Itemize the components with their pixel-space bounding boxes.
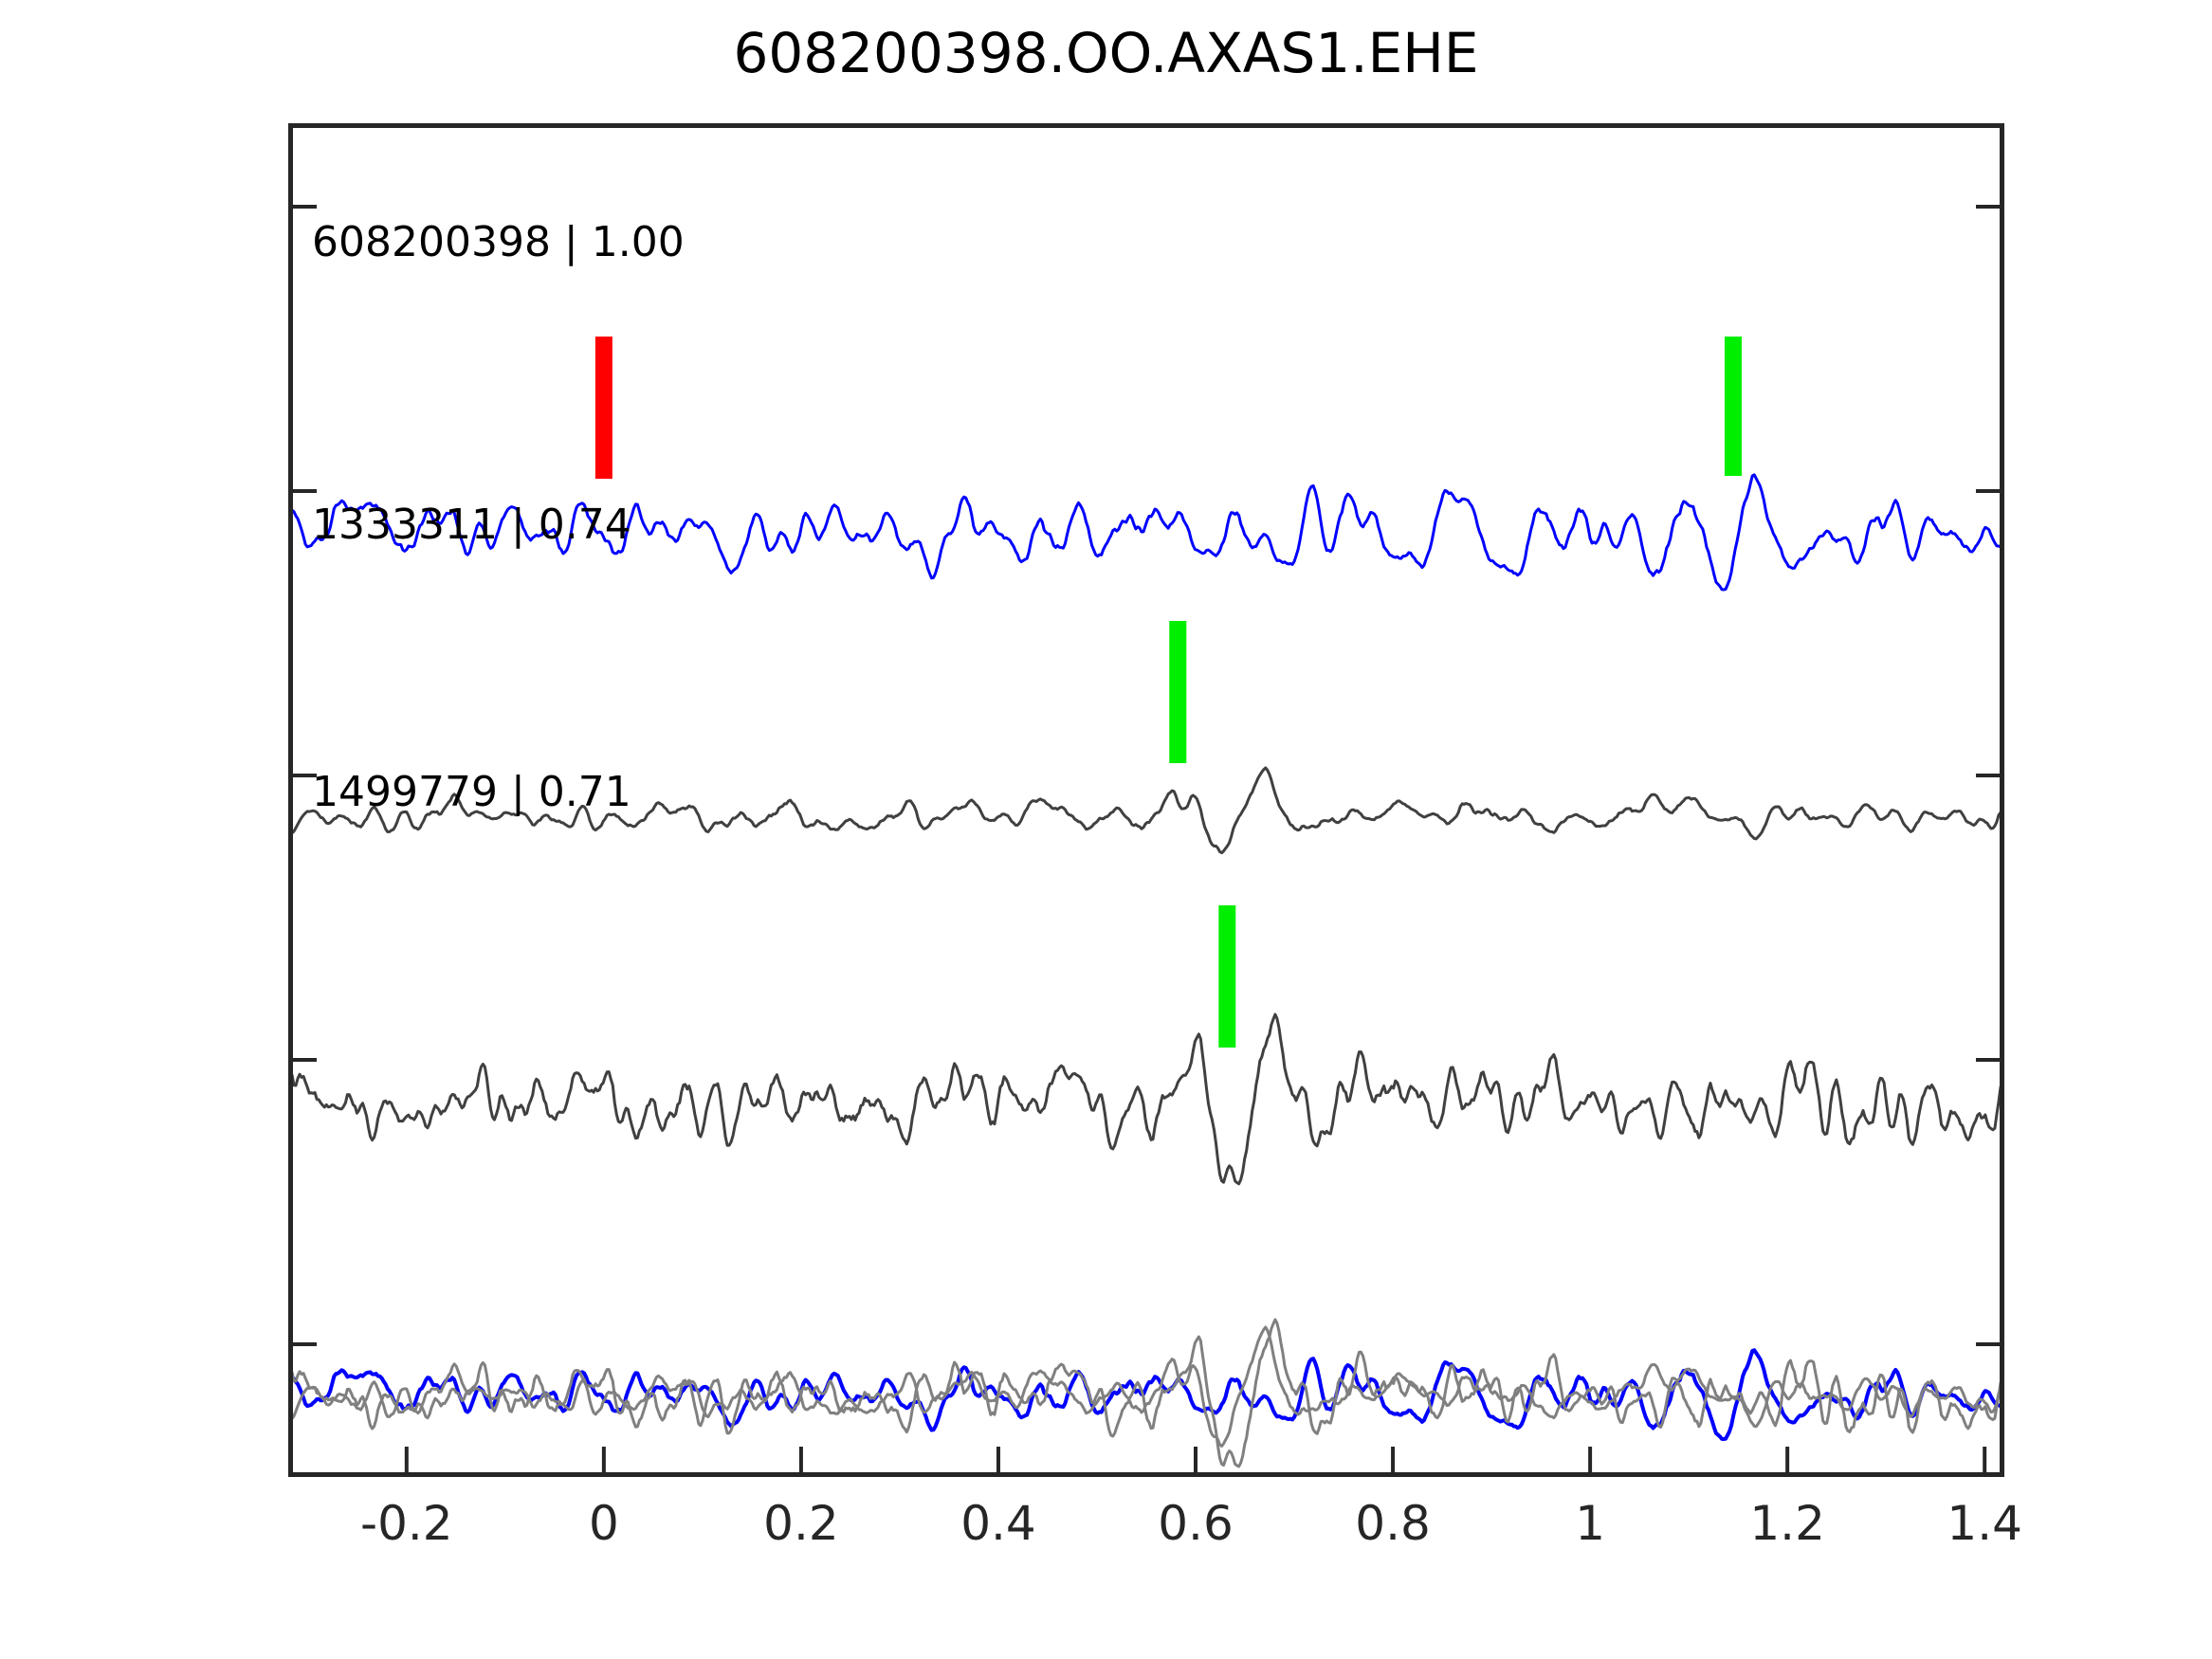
detection-pick-1[interactable] <box>1725 337 1742 476</box>
x-tick-label-8: 1.4 <box>1947 1496 2022 1551</box>
x-tick-label-5: 0.8 <box>1355 1496 1431 1551</box>
plot-axes[interactable]: 608200398 | 1.00 1333311 | 0.74 1499779 … <box>288 123 2004 1477</box>
x-tick-label-1: 0 <box>589 1496 619 1551</box>
x-tick-label-3: 0.4 <box>960 1496 1036 1551</box>
pick-markers-group <box>595 337 1742 1048</box>
reference-pick[interactable] <box>595 337 612 479</box>
detection-pick-3[interactable] <box>1218 905 1235 1048</box>
x-tick-label-0: -0.2 <box>360 1496 453 1551</box>
detection-pick-2[interactable] <box>1169 621 1186 763</box>
x-tick-label-2: 0.2 <box>763 1496 839 1551</box>
x-tick-label-6: 1 <box>1575 1496 1605 1551</box>
trace-label-1333311: 1333311 | 0.74 <box>312 501 631 549</box>
x-tick-label-7: 1.2 <box>1749 1496 1825 1551</box>
trace-label-608200398: 608200398 | 1.00 <box>312 218 685 266</box>
figure-canvas: 608200398.OO.AXAS1.EHE 608200398 | 1.00 … <box>0 0 2212 1659</box>
page-title: 608200398.OO.AXAS1.EHE <box>0 21 2212 85</box>
axis-ticks-group <box>291 207 2002 1475</box>
waveform-trace-1499779 <box>288 1014 2004 1184</box>
trace-label-1499779: 1499779 | 0.71 <box>312 768 631 816</box>
traces-group <box>288 475 2004 1467</box>
x-axis-tick-labels: -0.200.20.40.60.811.21.4 <box>288 1496 2004 1581</box>
x-tick-label-4: 0.6 <box>1158 1496 1234 1551</box>
